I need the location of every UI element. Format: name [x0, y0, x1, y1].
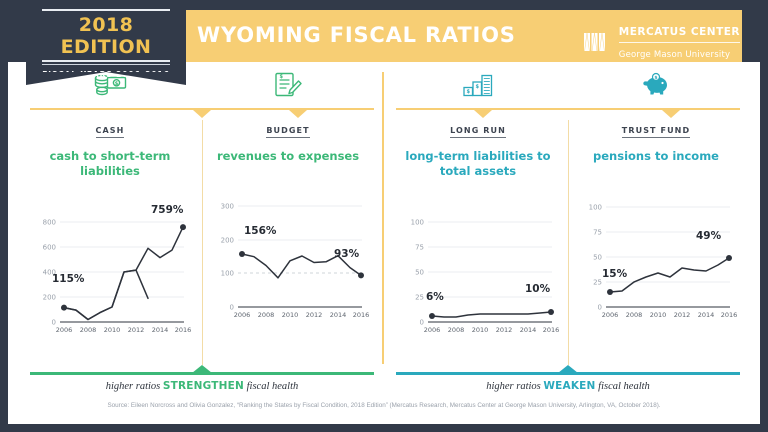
chart-column-long-run: $ $ LONG RUN long-term liabilities to to…	[390, 62, 566, 362]
start-value-long-run: 6%	[426, 291, 444, 303]
svg-text:100: 100	[221, 270, 234, 278]
svg-text:2014: 2014	[152, 326, 169, 334]
weaken-caption: higher ratios WEAKEN fiscal health	[396, 380, 740, 392]
svg-text:2016: 2016	[353, 311, 370, 319]
svg-text:100: 100	[411, 219, 424, 227]
start-point-long-run	[429, 313, 435, 319]
ratio-title-long-run: long-term liabilities to total assets	[390, 149, 566, 179]
svg-text:2012: 2012	[674, 311, 691, 319]
end-point-trust-fund	[726, 255, 732, 261]
category-label-trust-fund: TRUST FUND	[568, 126, 744, 135]
end-value-budget: 93%	[334, 248, 359, 260]
start-value-trust-fund: 15%	[602, 268, 627, 280]
start-value-budget: 156%	[244, 225, 276, 237]
svg-text:2014: 2014	[698, 311, 715, 319]
svg-text:600: 600	[43, 244, 56, 252]
page-title: WYOMING FISCAL RATIOS	[197, 23, 516, 47]
svg-text:2006: 2006	[56, 326, 73, 334]
svg-text:2010: 2010	[282, 311, 299, 319]
mercatus-logo: MERCATUS CENTER George Mason University	[584, 22, 740, 62]
long-run-bar-stack-icon: $ $	[390, 62, 566, 108]
svg-text:2016: 2016	[721, 311, 738, 319]
x-ticks-trust-fund: 2006 2008 2010 2012 2014 2016	[602, 311, 738, 319]
svg-text:2010: 2010	[472, 326, 489, 334]
chart-trust-fund-svg: 0 25 50 75 100 2006 2008 2010 2012 2014	[568, 172, 744, 320]
svg-text:2016: 2016	[543, 326, 560, 334]
svg-text:75: 75	[415, 244, 424, 252]
logo-text: MERCATUS CENTER George Mason University	[619, 22, 740, 62]
chart-long-run-svg: 0 25 50 75 100 2006 2008 2010 2012 2014	[390, 187, 566, 335]
ratio-title-cash: cash to short-term liabilities	[22, 149, 198, 179]
svg-text:50: 50	[593, 254, 602, 262]
svg-text:2016: 2016	[175, 326, 192, 334]
main-panel: $ CASH cash to short-term liabilities	[8, 62, 760, 424]
gridlines-cash	[60, 222, 184, 297]
end-point-long-run	[548, 309, 554, 315]
svg-text:200: 200	[221, 237, 234, 245]
start-point-cash	[61, 305, 67, 311]
weaken-caret	[558, 365, 578, 373]
chart-column-trust-fund: $ TRUST FUND pensions to income	[568, 62, 744, 362]
series-line-long-run	[432, 312, 551, 317]
svg-text:300: 300	[221, 203, 234, 211]
chart-column-budget: $ BUDGET revenues to expenses	[200, 62, 376, 362]
logo-subtitle: George Mason University	[619, 50, 730, 60]
chart-columns: $ CASH cash to short-term liabilities	[8, 62, 760, 424]
category-label-cash: CASH	[22, 126, 198, 135]
svg-text:2012: 2012	[496, 326, 513, 334]
end-point-cash	[180, 224, 186, 230]
svg-text:2012: 2012	[306, 311, 323, 319]
chart-trust-fund: 0 25 50 75 100 2006 2008 2010 2012 2014	[568, 172, 744, 320]
y-ticks-budget: 0 100 200 300	[221, 203, 234, 312]
svg-text:2014: 2014	[330, 311, 347, 319]
svg-text:800: 800	[43, 219, 56, 227]
source-citation: Source: Eileen Norcross and Olivia Gonza…	[8, 402, 760, 409]
start-value-cash: 115%	[52, 273, 84, 285]
weaken-keyword: WEAKEN	[543, 380, 595, 392]
header: 2018 EDITION FISCAL YEARS 2006–2016 WYOM…	[0, 0, 768, 62]
x-ticks-long-run: 2006 2008 2010 2012 2014 2016	[424, 326, 560, 334]
svg-text:2006: 2006	[602, 311, 619, 319]
chart-budget-svg: 0 100 200 300 2006 2008 2010 2012 2014 2…	[200, 172, 376, 320]
svg-text:2006: 2006	[424, 326, 441, 334]
logo-divider	[619, 42, 740, 43]
badge-rule-bottom	[42, 60, 170, 62]
svg-text:$: $	[466, 89, 470, 95]
strengthen-suffix: fiscal health	[244, 381, 298, 392]
end-value-long-run: 10%	[525, 283, 550, 295]
svg-text:2008: 2008	[448, 326, 465, 334]
y-ticks-trust-fund: 0 25 50 75 100	[589, 204, 602, 312]
start-point-budget	[239, 251, 245, 257]
strengthen-prefix: higher ratios	[106, 381, 163, 392]
svg-text:$: $	[475, 84, 479, 90]
y-ticks-long-run: 0 25 50 75 100	[411, 219, 424, 327]
weaken-prefix: higher ratios	[486, 381, 543, 392]
svg-text:2014: 2014	[520, 326, 537, 334]
svg-text:25: 25	[593, 279, 602, 287]
chart-column-cash: $ CASH cash to short-term liabilities	[22, 62, 198, 362]
badge-title: 2018 EDITION	[40, 11, 172, 60]
svg-text:75: 75	[593, 229, 602, 237]
svg-text:2010: 2010	[104, 326, 121, 334]
budget-document-pencil-icon: $	[200, 62, 376, 108]
category-label-budget: BUDGET	[200, 126, 376, 135]
svg-text:2006: 2006	[234, 311, 251, 319]
svg-text:200: 200	[43, 294, 56, 302]
logo-title: MERCATUS CENTER	[619, 26, 740, 38]
svg-text:100: 100	[589, 204, 602, 212]
end-value-trust-fund: 49%	[696, 230, 721, 242]
end-point-budget	[358, 272, 364, 278]
svg-text:2008: 2008	[626, 311, 643, 319]
x-ticks-cash: 2006 2008 2010 2012 2014 2016	[56, 326, 192, 334]
edition-badge: 2018 EDITION FISCAL YEARS 2006–2016	[26, 0, 186, 72]
chart-long-run: 0 25 50 75 100 2006 2008 2010 2012 2014	[390, 187, 566, 335]
ratio-title-trust-fund: pensions to income	[568, 149, 744, 164]
infographic-poster: 2018 EDITION FISCAL YEARS 2006–2016 WYOM…	[0, 0, 768, 432]
svg-text:25: 25	[415, 294, 424, 302]
weaken-suffix: fiscal health	[596, 381, 650, 392]
svg-text:50: 50	[415, 269, 424, 277]
strengthen-caret	[192, 365, 212, 373]
strengthen-caption: higher ratios STRENGTHEN fiscal health	[30, 380, 374, 392]
badge-subtitle: FISCAL YEARS 2006–2016	[40, 65, 172, 79]
x-ticks-budget: 2006 2008 2010 2012 2014 2016	[234, 311, 370, 319]
svg-text:2008: 2008	[80, 326, 97, 334]
series-line-trust-fund	[610, 258, 729, 292]
strengthen-keyword: STRENGTHEN	[163, 380, 244, 392]
end-value-cash: 759%	[151, 204, 183, 216]
svg-text:$: $	[654, 75, 657, 81]
start-point-trust-fund	[607, 289, 613, 295]
svg-text:2012: 2012	[128, 326, 145, 334]
category-label-long-run: LONG RUN	[390, 126, 566, 135]
ratio-title-budget: revenues to expenses	[200, 149, 376, 164]
chart-budget: 0 100 200 300 2006 2008 2010 2012 2014 2…	[200, 172, 376, 320]
mercatus-logo-icon	[584, 31, 612, 53]
svg-text:2008: 2008	[258, 311, 275, 319]
chart-cash: 0 200 400 600 800 2006 2008 2010 2012 20…	[22, 187, 198, 335]
piggy-bank-icon: $	[568, 62, 744, 108]
svg-text:2010: 2010	[650, 311, 667, 319]
svg-text:$: $	[280, 74, 284, 80]
